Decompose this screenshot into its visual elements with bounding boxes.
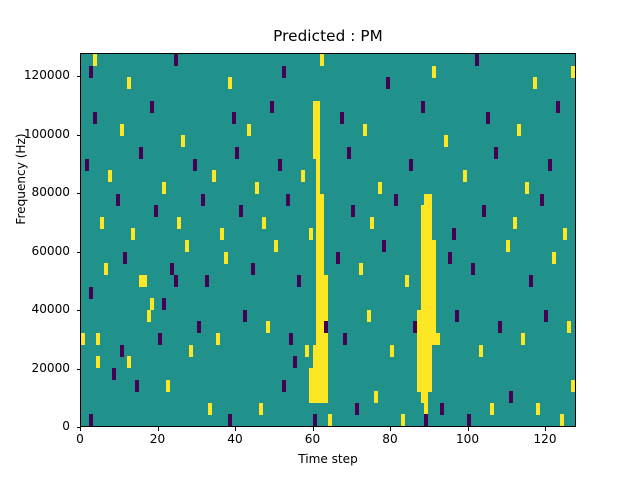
heatmap-cell	[108, 170, 112, 182]
heatmap-cell	[131, 228, 135, 240]
heatmap-cell	[452, 228, 456, 240]
heatmap-cell	[278, 159, 282, 171]
heatmap-cell	[116, 194, 120, 206]
heatmap-cell	[324, 391, 328, 403]
heatmap-cell	[324, 321, 328, 333]
heatmap-cell	[432, 263, 436, 275]
heatmap-cell	[428, 380, 432, 392]
x-tick-label: 60	[278, 432, 348, 446]
heatmap-cell	[120, 124, 124, 136]
heatmap-cell	[286, 194, 290, 206]
heatmap-cell	[432, 252, 436, 264]
heatmap-cell	[212, 170, 216, 182]
heatmap-cell	[428, 217, 432, 229]
heatmap-cell	[297, 275, 301, 287]
heatmap-cell	[93, 54, 97, 66]
heatmap-cell	[282, 380, 286, 392]
x-tick-mark	[235, 427, 236, 431]
heatmap-cell	[328, 414, 332, 426]
heatmap-cell	[309, 228, 313, 240]
heatmap-cell	[421, 101, 425, 113]
heatmap-cell	[521, 333, 525, 345]
heatmap-cell	[247, 124, 251, 136]
heatmap-cell	[428, 228, 432, 240]
x-tick-label: 0	[45, 432, 115, 446]
x-tick-label: 80	[355, 432, 425, 446]
heatmap-cell	[123, 252, 127, 264]
heatmap-cell	[560, 414, 564, 426]
heatmap-cell	[262, 217, 266, 229]
heatmap-cell	[359, 263, 363, 275]
x-tick-label: 40	[200, 432, 270, 446]
x-tick-mark	[545, 427, 546, 431]
heatmap-cell	[432, 287, 436, 299]
heatmap-cell	[394, 194, 398, 206]
heatmap-cell	[170, 263, 174, 275]
heatmap-cell	[239, 205, 243, 217]
heatmap-cell	[544, 310, 548, 322]
heatmap-cell	[313, 380, 317, 392]
heatmap-cell	[150, 101, 154, 113]
heatmap-cell	[475, 54, 479, 66]
heatmap-cell	[313, 414, 317, 426]
heatmap-cell	[208, 403, 212, 415]
heatmap-cell	[340, 112, 344, 124]
heatmap-cell	[513, 217, 517, 229]
heatmap-cell	[378, 182, 382, 194]
heatmap-cell	[486, 112, 490, 124]
heatmap-cell	[428, 194, 432, 206]
heatmap-cell	[216, 333, 220, 345]
heatmap-cell	[320, 228, 324, 240]
heatmap-cell	[96, 333, 100, 345]
heatmap-cell	[417, 368, 421, 380]
y-tick-label: 120000	[0, 68, 70, 82]
heatmap-cell	[255, 182, 259, 194]
heatmap-cell	[89, 414, 93, 426]
heatmap-cell	[563, 228, 567, 240]
heatmap-cell	[467, 414, 471, 426]
heatmap-cell	[158, 333, 162, 345]
heatmap-cell	[316, 124, 320, 136]
y-tick-mark	[77, 193, 81, 194]
heatmap-cell	[201, 194, 205, 206]
heatmap-cell	[571, 380, 575, 392]
heatmap-cell	[100, 217, 104, 229]
heatmap-cell	[293, 356, 297, 368]
heatmap-cell	[189, 345, 193, 357]
heatmap-cell	[220, 228, 224, 240]
heatmap-cell	[127, 77, 131, 89]
heatmap-cell	[367, 310, 371, 322]
heatmap-cell	[444, 135, 448, 147]
heatmap-cell	[309, 391, 313, 403]
x-tick-mark	[80, 427, 81, 431]
x-tick-label: 120	[510, 432, 580, 446]
y-tick-mark	[77, 310, 81, 311]
heatmap-cell	[104, 263, 108, 275]
heatmap-cell	[471, 263, 475, 275]
heatmap-cell	[390, 345, 394, 357]
heatmap-cell	[282, 66, 286, 78]
heatmap-cell	[509, 391, 513, 403]
heatmap-cell	[174, 275, 178, 287]
heatmap-cell	[174, 54, 178, 66]
heatmap-cell	[120, 345, 124, 357]
heatmap-cell	[316, 182, 320, 194]
heatmap-cell	[316, 135, 320, 147]
heatmap-cell	[316, 159, 320, 171]
heatmap-cell	[309, 368, 313, 380]
heatmap-cell	[274, 240, 278, 252]
heatmap-cell	[85, 159, 89, 171]
heatmap-cell	[162, 182, 166, 194]
heatmap-cell	[316, 170, 320, 182]
y-tick-label: 0	[0, 419, 70, 433]
heatmap-cell	[571, 66, 575, 78]
heatmap-cell	[351, 205, 355, 217]
heatmap-cell	[320, 240, 324, 252]
heatmap-cell	[313, 345, 317, 357]
heatmap-cell	[479, 345, 483, 357]
heatmap-cell	[93, 112, 97, 124]
heatmap-cell	[259, 403, 263, 415]
heatmap-cell	[324, 298, 328, 310]
heatmap-cell	[243, 310, 247, 322]
heatmap-cell	[320, 217, 324, 229]
heatmap-cell	[482, 205, 486, 217]
heatmap-cell	[374, 391, 378, 403]
x-tick-mark	[468, 427, 469, 431]
heatmap-cell	[432, 321, 436, 333]
y-tick-mark	[77, 252, 81, 253]
y-tick-label: 20000	[0, 361, 70, 375]
heatmap-cell	[463, 170, 467, 182]
heatmap-cell	[428, 368, 432, 380]
heatmap-cell	[428, 345, 432, 357]
heatmap-cell	[320, 194, 324, 206]
heatmap-cell	[424, 403, 428, 415]
heatmap-cell	[305, 345, 309, 357]
heatmap-cell	[143, 275, 147, 287]
heatmap-cell	[96, 356, 100, 368]
heatmap-cell	[556, 101, 560, 113]
y-tick-mark	[77, 427, 81, 428]
heatmap-cell	[232, 112, 236, 124]
heatmap-cell	[405, 275, 409, 287]
y-tick-label: 80000	[0, 185, 70, 199]
heatmap-cell	[417, 310, 421, 322]
heatmap-cell	[517, 124, 521, 136]
heatmap-cell	[127, 356, 131, 368]
heatmap-cell	[197, 321, 201, 333]
heatmap-cell	[316, 147, 320, 159]
heatmap-cell	[224, 252, 228, 264]
heatmap-cell	[413, 321, 417, 333]
x-tick-mark	[313, 427, 314, 431]
heatmap-cell	[166, 380, 170, 392]
heatmap-cell	[324, 275, 328, 287]
heatmap-cell	[162, 298, 166, 310]
heatmap-cell	[370, 217, 374, 229]
heatmap-cell	[355, 403, 359, 415]
heatmap-cell	[320, 252, 324, 264]
x-tick-mark	[158, 427, 159, 431]
heatmap-cell	[432, 275, 436, 287]
y-axis-label: Frequency (Hz)	[14, 79, 28, 279]
heatmap-cell	[529, 275, 533, 287]
heatmap-cell	[455, 310, 459, 322]
heatmap-cell	[320, 54, 324, 66]
heatmap-cell	[177, 217, 181, 229]
y-tick-mark	[77, 76, 81, 77]
x-tick-mark	[390, 427, 391, 431]
heatmap-cell	[343, 333, 347, 345]
page-title: Predicted : PM	[80, 27, 576, 45]
heatmap-cell	[363, 124, 367, 136]
y-tick-mark	[77, 369, 81, 370]
heatmap-cell	[270, 101, 274, 113]
heatmap-cell	[409, 159, 413, 171]
heatmap-cell	[251, 263, 255, 275]
heatmap-cell	[506, 240, 510, 252]
heatmap-cell	[309, 380, 313, 392]
heatmap-plot-area	[80, 53, 576, 427]
heatmap-cell	[440, 403, 444, 415]
heatmap-cell	[382, 240, 386, 252]
heatmap-cell	[193, 159, 197, 171]
heatmap-cell	[139, 147, 143, 159]
x-tick-label: 20	[123, 432, 193, 446]
heatmap-cell	[428, 356, 432, 368]
heatmap-cell	[436, 333, 440, 345]
heatmap-cell	[316, 112, 320, 124]
heatmap-cell	[567, 321, 571, 333]
heatmap-cell	[490, 403, 494, 415]
heatmap-cell	[417, 345, 421, 357]
x-axis-label: Time step	[80, 452, 576, 466]
y-tick-label: 100000	[0, 127, 70, 141]
heatmap-cell	[89, 66, 93, 78]
heatmap-cell	[428, 205, 432, 217]
heatmap-cell	[540, 194, 544, 206]
heatmap-cell	[432, 298, 436, 310]
heatmap-cell	[135, 380, 139, 392]
heatmap-cell	[147, 310, 151, 322]
heatmap-cell	[324, 333, 328, 345]
x-tick-label: 100	[433, 432, 503, 446]
heatmap-cell	[324, 356, 328, 368]
heatmap-cell	[448, 252, 452, 264]
heatmap-cell	[316, 101, 320, 113]
heatmap-cell	[301, 170, 305, 182]
heatmap-cell	[424, 391, 428, 403]
heatmap-cell	[205, 275, 209, 287]
heatmap-cell	[536, 403, 540, 415]
heatmap-cell	[320, 263, 324, 275]
heatmap-cell	[525, 182, 529, 194]
heatmap-cell	[324, 287, 328, 299]
heatmap-cells	[81, 54, 575, 426]
heatmap-cell	[417, 380, 421, 392]
heatmap-cell	[266, 321, 270, 333]
heatmap-cell	[432, 240, 436, 252]
heatmap-cell	[235, 147, 239, 159]
heatmap-cell	[548, 159, 552, 171]
heatmap-cell	[289, 333, 293, 345]
heatmap-cell	[417, 356, 421, 368]
heatmap-cell	[401, 414, 405, 426]
heatmap-cell	[533, 77, 537, 89]
heatmap-cell	[185, 240, 189, 252]
heatmap-cell	[424, 414, 428, 426]
heatmap-cell	[181, 135, 185, 147]
heatmap-cell	[432, 310, 436, 322]
heatmap-cell	[324, 368, 328, 380]
heatmap-cell	[313, 391, 317, 403]
heatmap-cell	[324, 345, 328, 357]
heatmap-cell	[324, 310, 328, 322]
heatmap-cell	[154, 205, 158, 217]
heatmap-cell	[112, 368, 116, 380]
matplotlib-figure: Predicted : PM 020406080100120 020000400…	[0, 0, 640, 480]
heatmap-cell	[336, 252, 340, 264]
heatmap-cell	[320, 205, 324, 217]
heatmap-cell	[494, 147, 498, 159]
heatmap-cell	[432, 66, 436, 78]
heatmap-cell	[386, 77, 390, 89]
y-tick-mark	[77, 135, 81, 136]
heatmap-cell	[417, 321, 421, 333]
heatmap-cell	[150, 298, 154, 310]
heatmap-cell	[347, 147, 351, 159]
heatmap-cell	[324, 380, 328, 392]
heatmap-cell	[498, 321, 502, 333]
heatmap-cell	[552, 252, 556, 264]
heatmap-cell	[89, 287, 93, 299]
heatmap-cell	[81, 333, 85, 345]
y-tick-label: 60000	[0, 244, 70, 258]
heatmap-cell	[313, 368, 317, 380]
heatmap-cell	[228, 77, 232, 89]
heatmap-cell	[313, 356, 317, 368]
heatmap-cell	[228, 414, 232, 426]
y-tick-label: 40000	[0, 302, 70, 316]
heatmap-cell	[417, 333, 421, 345]
